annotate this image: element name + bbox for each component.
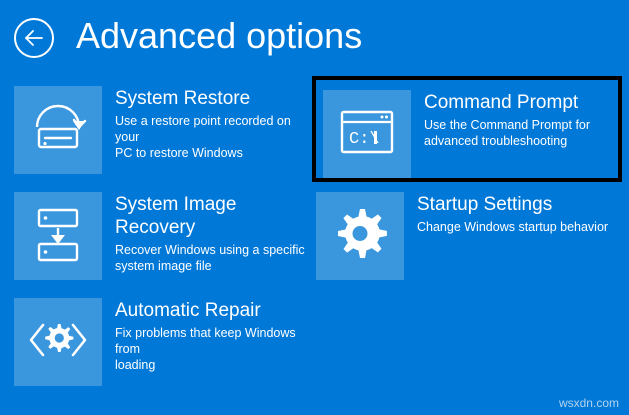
options-grid: System Restore Use a restore point recor…: [14, 80, 618, 398]
gear-icon: [333, 207, 387, 266]
command-prompt-tile: C:\: [323, 90, 411, 178]
system-restore-tile: [14, 86, 102, 174]
system-image-recovery-tile: [14, 192, 102, 280]
option-title: Startup Settings: [417, 193, 608, 216]
option-description: Recover Windows using a specific system …: [115, 242, 305, 274]
system-restore-icon: [29, 101, 87, 160]
startup-settings-tile: [316, 192, 404, 280]
option-startup-settings[interactable]: Startup Settings Change Windows startup …: [316, 186, 618, 292]
back-arrow-icon: [23, 29, 45, 47]
command-prompt-icon: C:\: [338, 107, 396, 162]
option-description: Use the Command Prompt for advanced trou…: [424, 117, 590, 149]
option-command-prompt[interactable]: C:\ Command Prompt Use the Command Promp…: [316, 80, 618, 178]
watermark: wsxdn.com: [559, 396, 619, 410]
option-description: Change Windows startup behavior: [417, 219, 608, 235]
option-system-image-recovery[interactable]: System Image Recovery Recover Windows us…: [14, 186, 316, 292]
option-description: Use a restore point recorded on your PC …: [115, 113, 316, 161]
system-image-recovery-icon: [32, 206, 84, 267]
option-title: System Image Recovery: [115, 193, 305, 239]
page-title: Advanced options: [76, 14, 362, 58]
back-button[interactable]: [14, 18, 54, 58]
option-automatic-repair[interactable]: Automatic Repair Fix problems that keep …: [14, 292, 316, 398]
option-title: Command Prompt: [424, 91, 590, 114]
automatic-repair-icon: [28, 318, 88, 367]
automatic-repair-tile: [14, 298, 102, 386]
header: Advanced options: [0, 0, 629, 62]
option-title: Automatic Repair: [115, 299, 316, 322]
option-system-restore[interactable]: System Restore Use a restore point recor…: [14, 80, 316, 186]
option-description: Fix problems that keep Windows from load…: [115, 325, 316, 373]
option-title: System Restore: [115, 87, 316, 110]
